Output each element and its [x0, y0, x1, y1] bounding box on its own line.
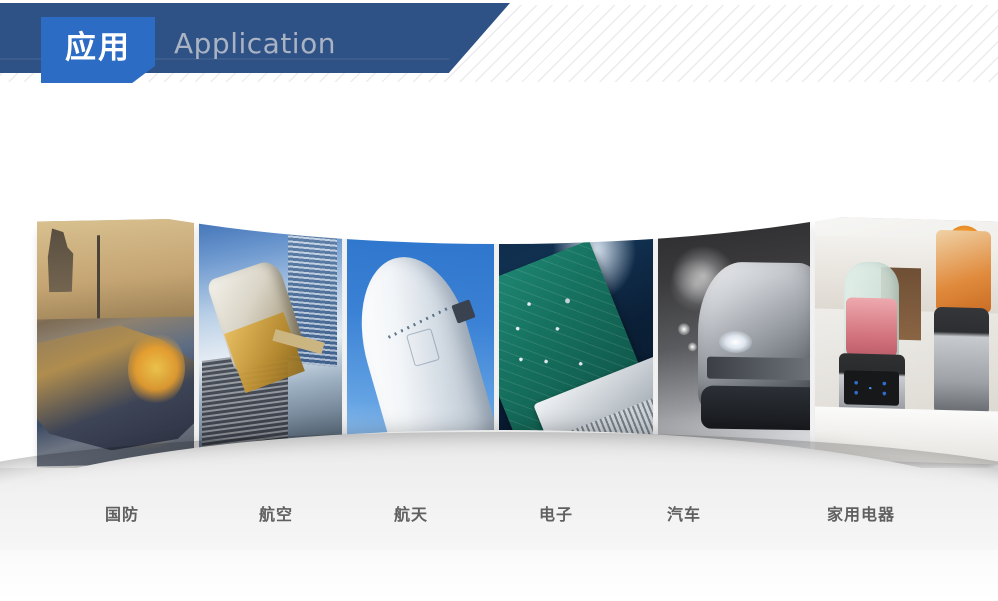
gallery-label-electronics: 电子 [539, 500, 573, 530]
gallery-label-defense: 国防 [105, 500, 139, 530]
gallery-labels: 国防 航空 航天 电子 汽车 家用电器 [0, 500, 998, 532]
section-tag-label: 应用 [41, 17, 155, 79]
gallery-label-home-appliance: 家用电器 [827, 500, 895, 530]
satellite-icon [199, 213, 342, 457]
gallery-panel-aerospace[interactable] [347, 212, 494, 450]
airliner-nose-icon [347, 212, 494, 450]
page-header: 应用 Application [0, 0, 998, 90]
fighter-jet-on-carrier-icon [37, 218, 194, 466]
gallery-label-aviation: 航空 [259, 500, 293, 530]
gallery-panel-home-appliance[interactable] [815, 216, 998, 464]
gallery-panel-electronics[interactable] [499, 211, 653, 451]
section-english-title: Application [174, 30, 336, 58]
blender-appliance-icon [815, 216, 998, 464]
circuit-board-icon [499, 211, 653, 451]
silver-car-front-icon [658, 213, 810, 454]
gallery-panel-defense[interactable] [37, 218, 194, 466]
gallery-panel-aviation[interactable] [199, 213, 342, 457]
gallery-label-aerospace: 航天 [394, 500, 428, 530]
gallery-label-automotive: 汽车 [667, 500, 701, 530]
hatch-bottom-mask [0, 82, 998, 92]
gallery-panel-automotive[interactable] [658, 213, 810, 454]
